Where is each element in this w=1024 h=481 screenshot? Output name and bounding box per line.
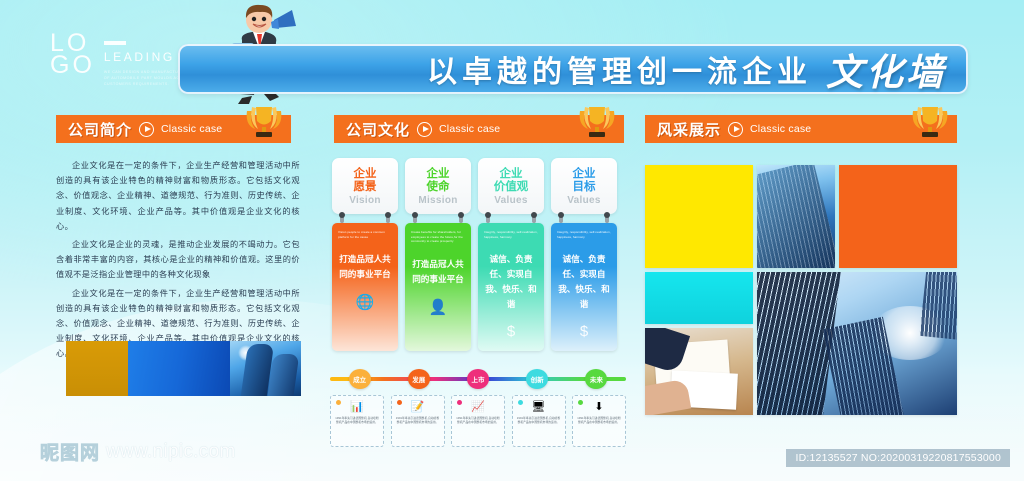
culture-card-title-zh2: 愿景 — [354, 180, 377, 193]
timeline-card-dot-icon — [397, 400, 402, 405]
section-title-zh: 公司简介 — [68, 119, 132, 140]
gallery-meeting-hands-photo[interactable] — [645, 328, 753, 415]
timeline-card[interactable]: 🖥1991年率先引进德国整机,自动喷粉整机产品在中国整机市场的运用。 — [512, 395, 566, 447]
culture-card-glyph-icon: 🌐 — [356, 293, 375, 311]
timeline-card-text: 1991年率先引进德国整机,自动喷粉整机产品在中国整机市场的运用。 — [335, 417, 379, 426]
culture-card[interactable]: 企业使命MissionCreate benefits for sharehold… — [405, 158, 471, 353]
play-arrow-icon — [417, 122, 432, 137]
section-title-zh: 公司文化 — [346, 119, 410, 140]
culture-card-header: 企业价值观Values — [478, 158, 544, 214]
culture-card-english-note: Create benefits for shareholders, for em… — [411, 230, 465, 244]
culture-card-title-zh2: 价值观 — [494, 180, 529, 193]
watermark-url: www.nipic.com — [106, 441, 236, 463]
trophy-icon — [576, 101, 618, 143]
culture-card-title-en: Values — [494, 195, 528, 206]
play-arrow-icon — [139, 122, 154, 137]
section-title-en: Classic case — [750, 123, 811, 135]
timeline-node[interactable]: 上市 — [467, 369, 489, 389]
culture-card-title-zh: 企业 — [500, 167, 523, 180]
timeline-card-text: 1991年率先引进德国整机,自动喷粉整机产品在中国整机市场的运用。 — [577, 417, 621, 426]
intro-paragraph: 企业文化是在一定的条件下，企业生产经营和管理活动中所创造的具有该企业特色的精神财… — [56, 158, 300, 234]
culture-card-title-zh: 企业 — [427, 167, 450, 180]
culture-card-slogan: 打造品冠人共同的事业平台 — [338, 253, 392, 283]
timeline-card-icon: 🖥 — [517, 401, 561, 414]
logo-dash-icon — [104, 41, 126, 45]
timeline-card-icon: 📈 — [456, 401, 500, 414]
culture-card-body: Create benefits for shareholders, for em… — [405, 223, 471, 351]
culture-card-header: 企业使命Mission — [405, 158, 471, 214]
timeline-card-icon: ⬇ — [577, 401, 621, 414]
intro-image-strip — [66, 341, 301, 396]
timeline-cards: 📊1991年率先引进德国整机,自动喷粉整机产品在中国整机市场的运用。📝1991年… — [330, 395, 626, 447]
timeline-card-icon: 📝 — [396, 401, 440, 414]
showcase-gallery — [645, 165, 957, 415]
culture-card-english-note: Integrity, responsibility, self-realizat… — [484, 230, 538, 239]
section-header-company-culture: 公司文化 Classic case — [334, 115, 624, 143]
culture-card-title-zh2: 使命 — [427, 180, 450, 193]
culture-cards: 企业愿景VisionVision people to create a comm… — [332, 158, 624, 353]
timeline-card-dot-icon — [336, 400, 341, 405]
timeline-card-text: 1991年率先引进德国整机,自动喷粉整机产品在中国整机市场的运用。 — [396, 417, 440, 426]
card-clip-icon — [332, 214, 398, 223]
culture-card-english-note: Vision people to create a common platfor… — [338, 230, 392, 239]
trophy-icon — [243, 101, 285, 143]
timeline-card[interactable]: 📈1991年率先引进德国整机,自动喷粉整机产品在中国整机市场的运用。 — [451, 395, 505, 447]
intro-paragraph: 企业文化是企业的灵魂，是推动企业发展的不竭动力。它包含着非常丰富的内容，其核心是… — [56, 237, 300, 283]
culture-card-title-en: Mission — [418, 195, 457, 206]
timeline-card-icon: 📊 — [335, 401, 379, 414]
section-header-company-intro: 公司简介 Classic case — [56, 115, 291, 143]
watermark: 昵图网 www.nipic.com — [40, 438, 236, 465]
timeline-node[interactable]: 未来 — [585, 369, 607, 389]
culture-card-body: Vision people to create a common platfor… — [332, 223, 398, 351]
culture-card-header: 企业目标Values — [551, 158, 617, 214]
culture-card-header: 企业愿景Vision — [332, 158, 398, 214]
gallery-yellow-block[interactable] — [645, 165, 753, 268]
timeline-card-dot-icon — [578, 400, 583, 405]
card-clip-icon — [551, 214, 617, 223]
banner-title-accent: 文化墙 — [826, 42, 946, 96]
skyscraper-thumb — [230, 341, 301, 396]
company-timeline: 成立发展上市创新未来 📊1991年率先引进德国整机,自动喷粉整机产品在中国整机市… — [330, 369, 626, 447]
banner-title-main: 以卓越的管理创一流企业 — [427, 47, 812, 91]
culture-card-body: Integrity, responsibility, self-realizat… — [478, 223, 544, 351]
section-header-showcase: 风采展示 Classic case — [645, 115, 957, 143]
culture-card-title-zh: 企业 — [354, 167, 377, 180]
culture-card-title-zh2: 目标 — [573, 180, 596, 193]
culture-card-body: Integrity, responsibility, self-realizat… — [551, 223, 617, 351]
section-title-en: Classic case — [161, 123, 222, 135]
section-title-en: Classic case — [439, 123, 500, 135]
logo-mark: LO GO — [50, 32, 95, 76]
culture-card-glyph-icon: 👤 — [429, 298, 448, 316]
culture-card[interactable]: 企业目标ValuesIntegrity, responsibility, sel… — [551, 158, 617, 353]
timeline-node[interactable]: 发展 — [408, 369, 430, 389]
timeline-card-dot-icon — [518, 400, 523, 405]
timeline-card-text: 1991年率先引进德国整机,自动喷粉整机产品在中国整机市场的运用。 — [517, 417, 561, 426]
culture-card-title-zh: 企业 — [573, 167, 596, 180]
gallery-skyscraper-photo-2[interactable] — [757, 272, 957, 415]
company-intro-text: 企业文化是在一定的条件下，企业生产经营和管理活动中所创造的具有该企业特色的精神财… — [56, 158, 300, 365]
gallery-orange-block[interactable] — [839, 165, 957, 268]
culture-card-slogan: 诚信、负责任、实现自我、快乐、和谐 — [484, 253, 538, 313]
culture-card-title-en: Values — [567, 195, 601, 206]
timeline-card-text: 1991年率先引进德国整机,自动喷粉整机产品在中国整机市场的运用。 — [456, 417, 500, 426]
culture-card-glyph-icon: $ — [507, 323, 515, 340]
gallery-cyan-block[interactable] — [645, 272, 753, 324]
culture-card-glyph-icon: $ — [580, 323, 588, 340]
play-arrow-icon — [728, 122, 743, 137]
timeline-node[interactable]: 创新 — [526, 369, 548, 389]
card-clip-icon — [478, 214, 544, 223]
timeline-card[interactable]: ⬇1991年率先引进德国整机,自动喷粉整机产品在中国整机市场的运用。 — [572, 395, 626, 447]
section-title-zh: 风采展示 — [657, 119, 721, 140]
card-clip-icon — [405, 214, 471, 223]
timeline-card-dot-icon — [457, 400, 462, 405]
culture-card[interactable]: 企业愿景VisionVision people to create a comm… — [332, 158, 398, 353]
blue-gradient-block — [128, 341, 230, 396]
title-banner: 以卓越的管理创一流企业 文化墙 — [178, 44, 968, 94]
culture-card-title-en: Vision — [349, 195, 381, 206]
timeline-card[interactable]: 📝1991年率先引进德国整机,自动喷粉整机产品在中国整机市场的运用。 — [391, 395, 445, 447]
culture-card[interactable]: 企业价值观ValuesIntegrity, responsibility, se… — [478, 158, 544, 353]
timeline-nodes: 成立发展上市创新未来 — [330, 369, 626, 389]
logo-mark-line2: GO — [50, 54, 95, 76]
gold-block — [66, 341, 128, 396]
watermark-zh: 昵图网 — [40, 438, 100, 465]
image-id-badge: ID:12135527 NO:20200319220817553000 — [786, 449, 1010, 467]
gallery-skyscraper-photo-1[interactable] — [757, 165, 835, 268]
timeline-node[interactable]: 成立 — [349, 369, 371, 389]
culture-card-slogan: 打造品冠人共同的事业平台 — [411, 258, 465, 288]
trophy-icon — [909, 101, 951, 143]
culture-card-slogan: 诚信、负责任、实现自我、快乐、和谐 — [557, 253, 611, 313]
timeline-card[interactable]: 📊1991年率先引进德国整机,自动喷粉整机产品在中国整机市场的运用。 — [330, 395, 384, 447]
culture-card-english-note: Integrity, responsibility, self-realizat… — [557, 230, 611, 239]
